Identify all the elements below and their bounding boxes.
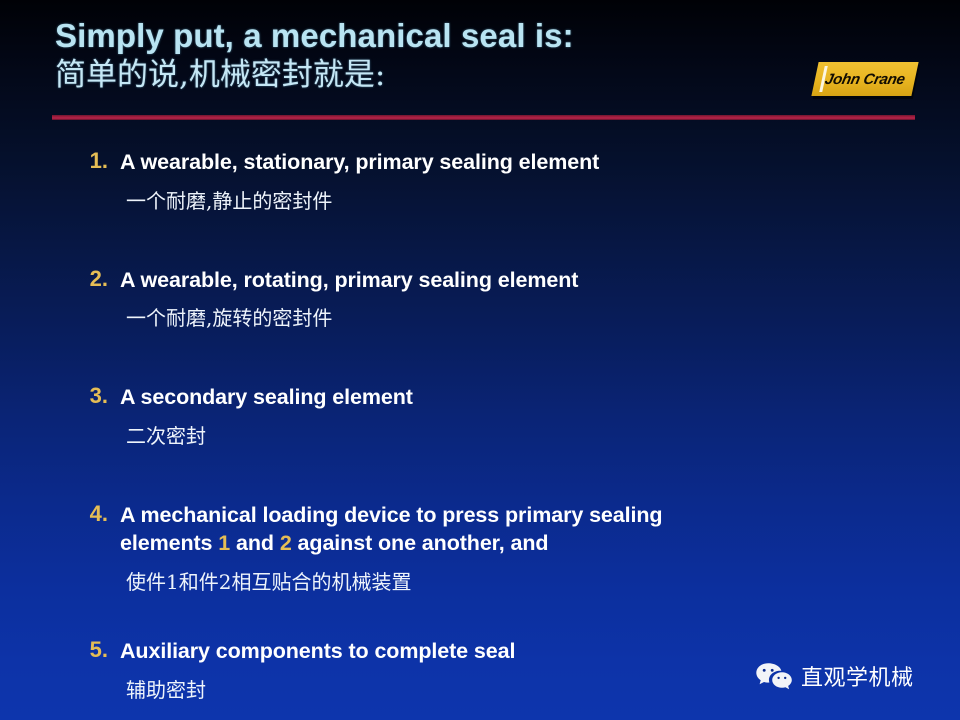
spacer: [68, 449, 908, 501]
spacer: [68, 331, 908, 383]
list-item-chinese: 一个耐磨,旋转的密封件: [120, 305, 908, 331]
list-item-english: A secondary sealing element: [120, 383, 908, 412]
list-item-chinese: 使件1和件2相互贴合的机械装置: [120, 569, 908, 595]
list-item-number: 5.: [68, 637, 108, 663]
list-item: 2. A wearable, rotating, primary sealing…: [68, 266, 908, 332]
numbered-list: 1. A wearable, stationary, primary seali…: [68, 148, 908, 703]
line2-segment-c: against one another, and: [292, 531, 549, 555]
list-item-number: 2.: [68, 266, 108, 292]
watermark: 直观学机械: [755, 660, 914, 692]
wechat-icon: [755, 662, 793, 690]
list-item-chinese: 一个耐磨,静止的密封件: [120, 188, 908, 214]
list-item-english-line1: A mechanical loading device to press pri…: [120, 501, 908, 530]
watermark-text: 直观学机械: [801, 660, 914, 692]
slide-title-block: Simply put, a mechanical seal is: 简单的说,机…: [55, 18, 795, 94]
page-title-english: Simply put, a mechanical seal is:: [55, 18, 795, 55]
list-item-chinese: 二次密封: [120, 423, 908, 449]
inline-reference-1: 1: [218, 531, 230, 555]
spacer: [68, 214, 908, 266]
list-item-english: A wearable, rotating, primary sealing el…: [120, 266, 908, 295]
title-divider-rule: [52, 115, 915, 120]
line2-segment-b: and: [230, 531, 280, 555]
page-title-chinese: 简单的说,机械密封就是:: [55, 57, 795, 94]
list-item-number: 3.: [68, 383, 108, 409]
list-item-number: 4.: [68, 501, 108, 527]
list-item: 4. A mechanical loading device to press …: [68, 501, 908, 595]
logo-text: John Crane: [811, 62, 918, 96]
list-item: 1. A wearable, stationary, primary seali…: [68, 148, 908, 214]
slide-canvas: Simply put, a mechanical seal is: 简单的说,机…: [0, 0, 960, 720]
inline-reference-2: 2: [280, 531, 292, 555]
list-item-english-line2: elements 1 and 2 against one another, an…: [120, 529, 908, 558]
list-item-english: A wearable, stationary, primary sealing …: [120, 148, 908, 177]
john-crane-logo: John Crane: [815, 62, 915, 98]
list-item-number: 1.: [68, 148, 108, 174]
line2-segment-a: elements: [120, 531, 218, 555]
list-item: 3. A secondary sealing element 二次密封: [68, 383, 908, 449]
spacer: [68, 595, 908, 637]
